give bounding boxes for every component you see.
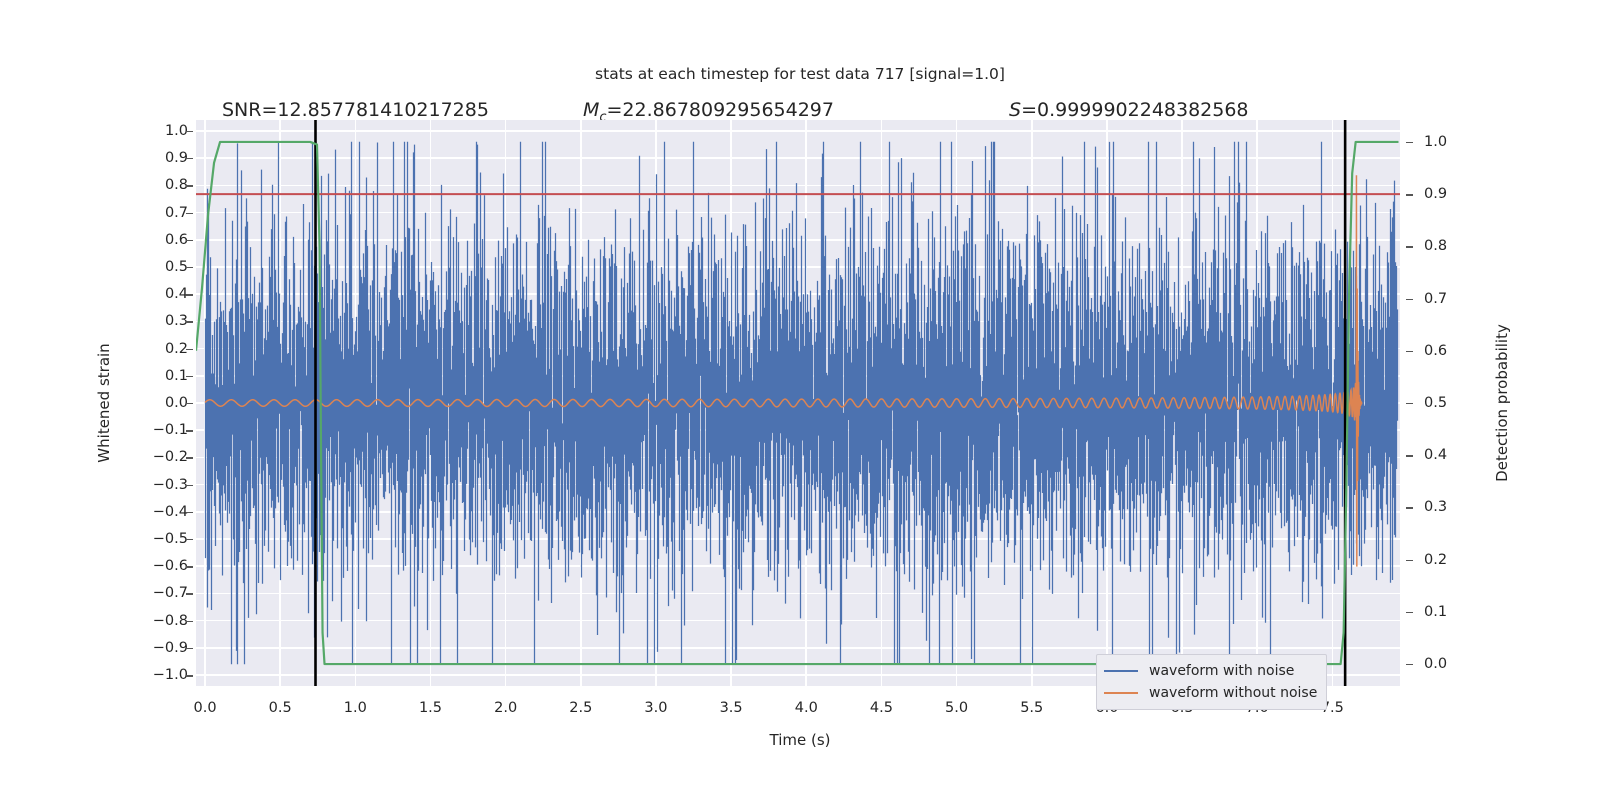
y-tick-mark-left: [186, 621, 193, 622]
series-svg: [196, 120, 1400, 686]
y-tick-mark-right: [1406, 142, 1413, 143]
x-tick-label: 4.5: [870, 700, 893, 716]
y-tick-label-right: 0.4: [1424, 447, 1447, 463]
legend: waveform with noise waveform without noi…: [1096, 654, 1327, 710]
y-tick-label-right: 1.0: [1424, 134, 1447, 150]
y-tick-mark-left: [186, 185, 193, 186]
s-symbol: S: [1009, 99, 1021, 121]
x-tick-label: 5.0: [945, 700, 968, 716]
mc-value: =22.867809295654297: [607, 99, 834, 121]
legend-swatch-waveform-with-noise: [1104, 670, 1138, 673]
y-tick-label-right: 0.1: [1424, 604, 1447, 620]
y-tick-label-right: 0.8: [1424, 238, 1447, 254]
x-tick-label: 0.0: [193, 700, 216, 716]
y-tick-label-left: 0.5: [165, 259, 188, 275]
y-tick-mark-left: [186, 267, 193, 268]
y-tick-label-right: 0.9: [1424, 186, 1447, 202]
x-tick-label: 5.5: [1020, 700, 1043, 716]
y-tick-mark-right: [1406, 664, 1413, 665]
y-tick-label-left: 0.8: [165, 177, 188, 193]
y-tick-mark-left: [186, 539, 193, 540]
mc-symbol: M: [583, 99, 599, 121]
x-tick-label: 3.0: [644, 700, 667, 716]
y-tick-mark-right: [1406, 612, 1413, 613]
waveform-noise-path: [206, 142, 1398, 664]
y-tick-mark-left: [186, 158, 193, 159]
y-tick-mark-left: [186, 403, 193, 404]
snr-annotation: SNR=12.857781410217285: [222, 99, 489, 121]
y-tick-label-left: −0.5: [153, 531, 188, 547]
y-tick-mark-right: [1406, 246, 1413, 247]
y-tick-mark-left: [186, 294, 193, 295]
x-tick-label: 2.5: [569, 700, 592, 716]
x-tick-label: 4.0: [795, 700, 818, 716]
y-tick-label-left: −0.7: [153, 585, 188, 601]
y-tick-label-right: 0.3: [1424, 499, 1447, 515]
y-tick-mark-right: [1406, 299, 1413, 300]
y-tick-label-left: −0.8: [153, 613, 188, 629]
data-layer: [196, 120, 1400, 686]
y-axis-label-left: Whitened strain: [95, 343, 113, 462]
y-tick-mark-left: [186, 131, 193, 132]
y-tick-mark-left: [186, 485, 193, 486]
y-tick-mark-left: [186, 376, 193, 377]
legend-swatch-waveform-without-noise: [1104, 692, 1138, 695]
y-tick-label-left: 0.3: [165, 313, 188, 329]
y-tick-mark-left: [186, 648, 193, 649]
legend-item-1: waveform without noise: [1104, 682, 1317, 704]
y-tick-mark-right: [1406, 351, 1413, 352]
chart-title: stats at each timestep for test data 717…: [0, 65, 1600, 83]
y-tick-label-left: −0.1: [153, 422, 188, 438]
y-tick-mark-left: [186, 349, 193, 350]
y-tick-mark-left: [186, 566, 193, 567]
legend-label-1: waveform without noise: [1149, 685, 1317, 701]
y-tick-label-left: −0.4: [153, 504, 188, 520]
score-annotation: S=0.9999902248382568: [1009, 99, 1249, 121]
x-axis-label: Time (s): [0, 731, 1600, 749]
y-tick-label-left: 0.6: [165, 232, 188, 248]
series-waveform-with-noise: [206, 142, 1398, 664]
y-tick-label-right: 0.0: [1424, 656, 1447, 672]
figure-canvas: stats at each timestep for test data 717…: [0, 0, 1600, 800]
legend-item-0: waveform with noise: [1104, 660, 1317, 682]
x-tick-label: 1.5: [419, 700, 442, 716]
y-tick-label-left: −0.3: [153, 477, 188, 493]
x-tick-label: 1.0: [344, 700, 367, 716]
y-tick-label-left: 0.4: [165, 286, 188, 302]
y-tick-label-right: 0.7: [1424, 291, 1447, 307]
y-tick-label-left: −0.2: [153, 449, 188, 465]
legend-label-0: waveform with noise: [1149, 663, 1294, 679]
y-tick-mark-left: [186, 457, 193, 458]
y-tick-label-right: 0.5: [1424, 395, 1447, 411]
s-value: =0.9999902248382568: [1021, 99, 1248, 121]
y-tick-label-right: 0.2: [1424, 552, 1447, 568]
y-tick-label-left: −1.0: [153, 667, 188, 683]
y-tick-label-left: −0.6: [153, 558, 188, 574]
y-tick-mark-left: [186, 430, 193, 431]
y-tick-mark-left: [186, 675, 193, 676]
x-tick-label: 3.5: [720, 700, 743, 716]
x-tick-label: 0.5: [269, 700, 292, 716]
x-tick-label: 2.0: [494, 700, 517, 716]
y-tick-label-left: 0.7: [165, 205, 188, 221]
y-tick-mark-left: [186, 321, 193, 322]
y-tick-mark-left: [186, 593, 193, 594]
y-tick-mark-right: [1406, 455, 1413, 456]
y-axis-label-right: Detection probability: [1493, 324, 1511, 482]
y-tick-mark-right: [1406, 507, 1413, 508]
y-tick-mark-left: [186, 240, 193, 241]
y-tick-mark-left: [186, 512, 193, 513]
y-tick-label-left: 1.0: [165, 123, 188, 139]
y-tick-label-left: 0.9: [165, 150, 188, 166]
y-tick-mark-right: [1406, 403, 1413, 404]
y-tick-mark-left: [186, 213, 193, 214]
y-tick-label-left: −0.9: [153, 640, 188, 656]
y-tick-label-left: 0.2: [165, 341, 188, 357]
y-tick-mark-right: [1406, 560, 1413, 561]
y-tick-label-left: 0.0: [165, 395, 188, 411]
y-tick-mark-right: [1406, 194, 1413, 195]
plot-area: [196, 120, 1400, 686]
y-tick-label-right: 0.6: [1424, 343, 1447, 359]
y-tick-label-left: 0.1: [165, 368, 188, 384]
